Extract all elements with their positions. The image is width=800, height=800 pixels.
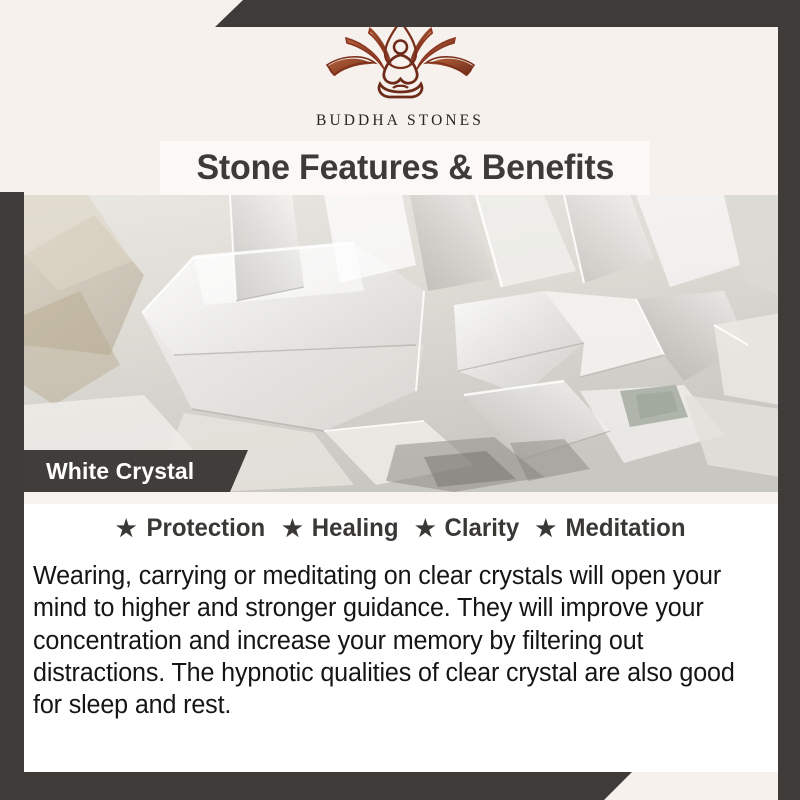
frame-band-bottom [0,772,632,800]
brand-name: BUDDHA STONES [316,112,484,130]
benefits-row: ★ Protection ★ Healing ★ Clarity ★ Medit… [24,514,780,543]
benefit-item-clarity: ★ Clarity [415,514,520,543]
page-title: Stone Features & Benefits [196,148,614,188]
frame-band-left [0,192,24,800]
benefit-item-protection: ★ Protection [116,514,267,543]
content-panel: ★ Protection ★ Healing ★ Clarity ★ Medit… [24,492,780,772]
star-icon: ★ [535,517,556,540]
star-icon: ★ [282,517,303,540]
panel-top-strip [24,492,780,504]
white-crystal-cluster-photo [24,195,780,492]
benefit-item-meditation: ★ Meditation [535,514,688,543]
benefit-label: Protection [146,514,265,543]
description-text: Wearing, carrying or meditating on clear… [33,560,758,721]
brand-logo: BUDDHA STONES [0,18,800,130]
benefit-label: Clarity [444,514,519,543]
photo-caption-text: White Crystal [24,458,194,485]
lotus-meditation-figure-icon [318,18,483,106]
benefit-label: Meditation [566,514,686,543]
title-banner: Stone Features & Benefits [160,141,650,195]
star-icon: ★ [415,517,436,540]
benefit-item-healing: ★ Healing [282,514,400,543]
photo-caption-banner: White Crystal [24,450,248,492]
star-icon: ★ [116,517,137,540]
benefit-label: Healing [312,514,399,543]
